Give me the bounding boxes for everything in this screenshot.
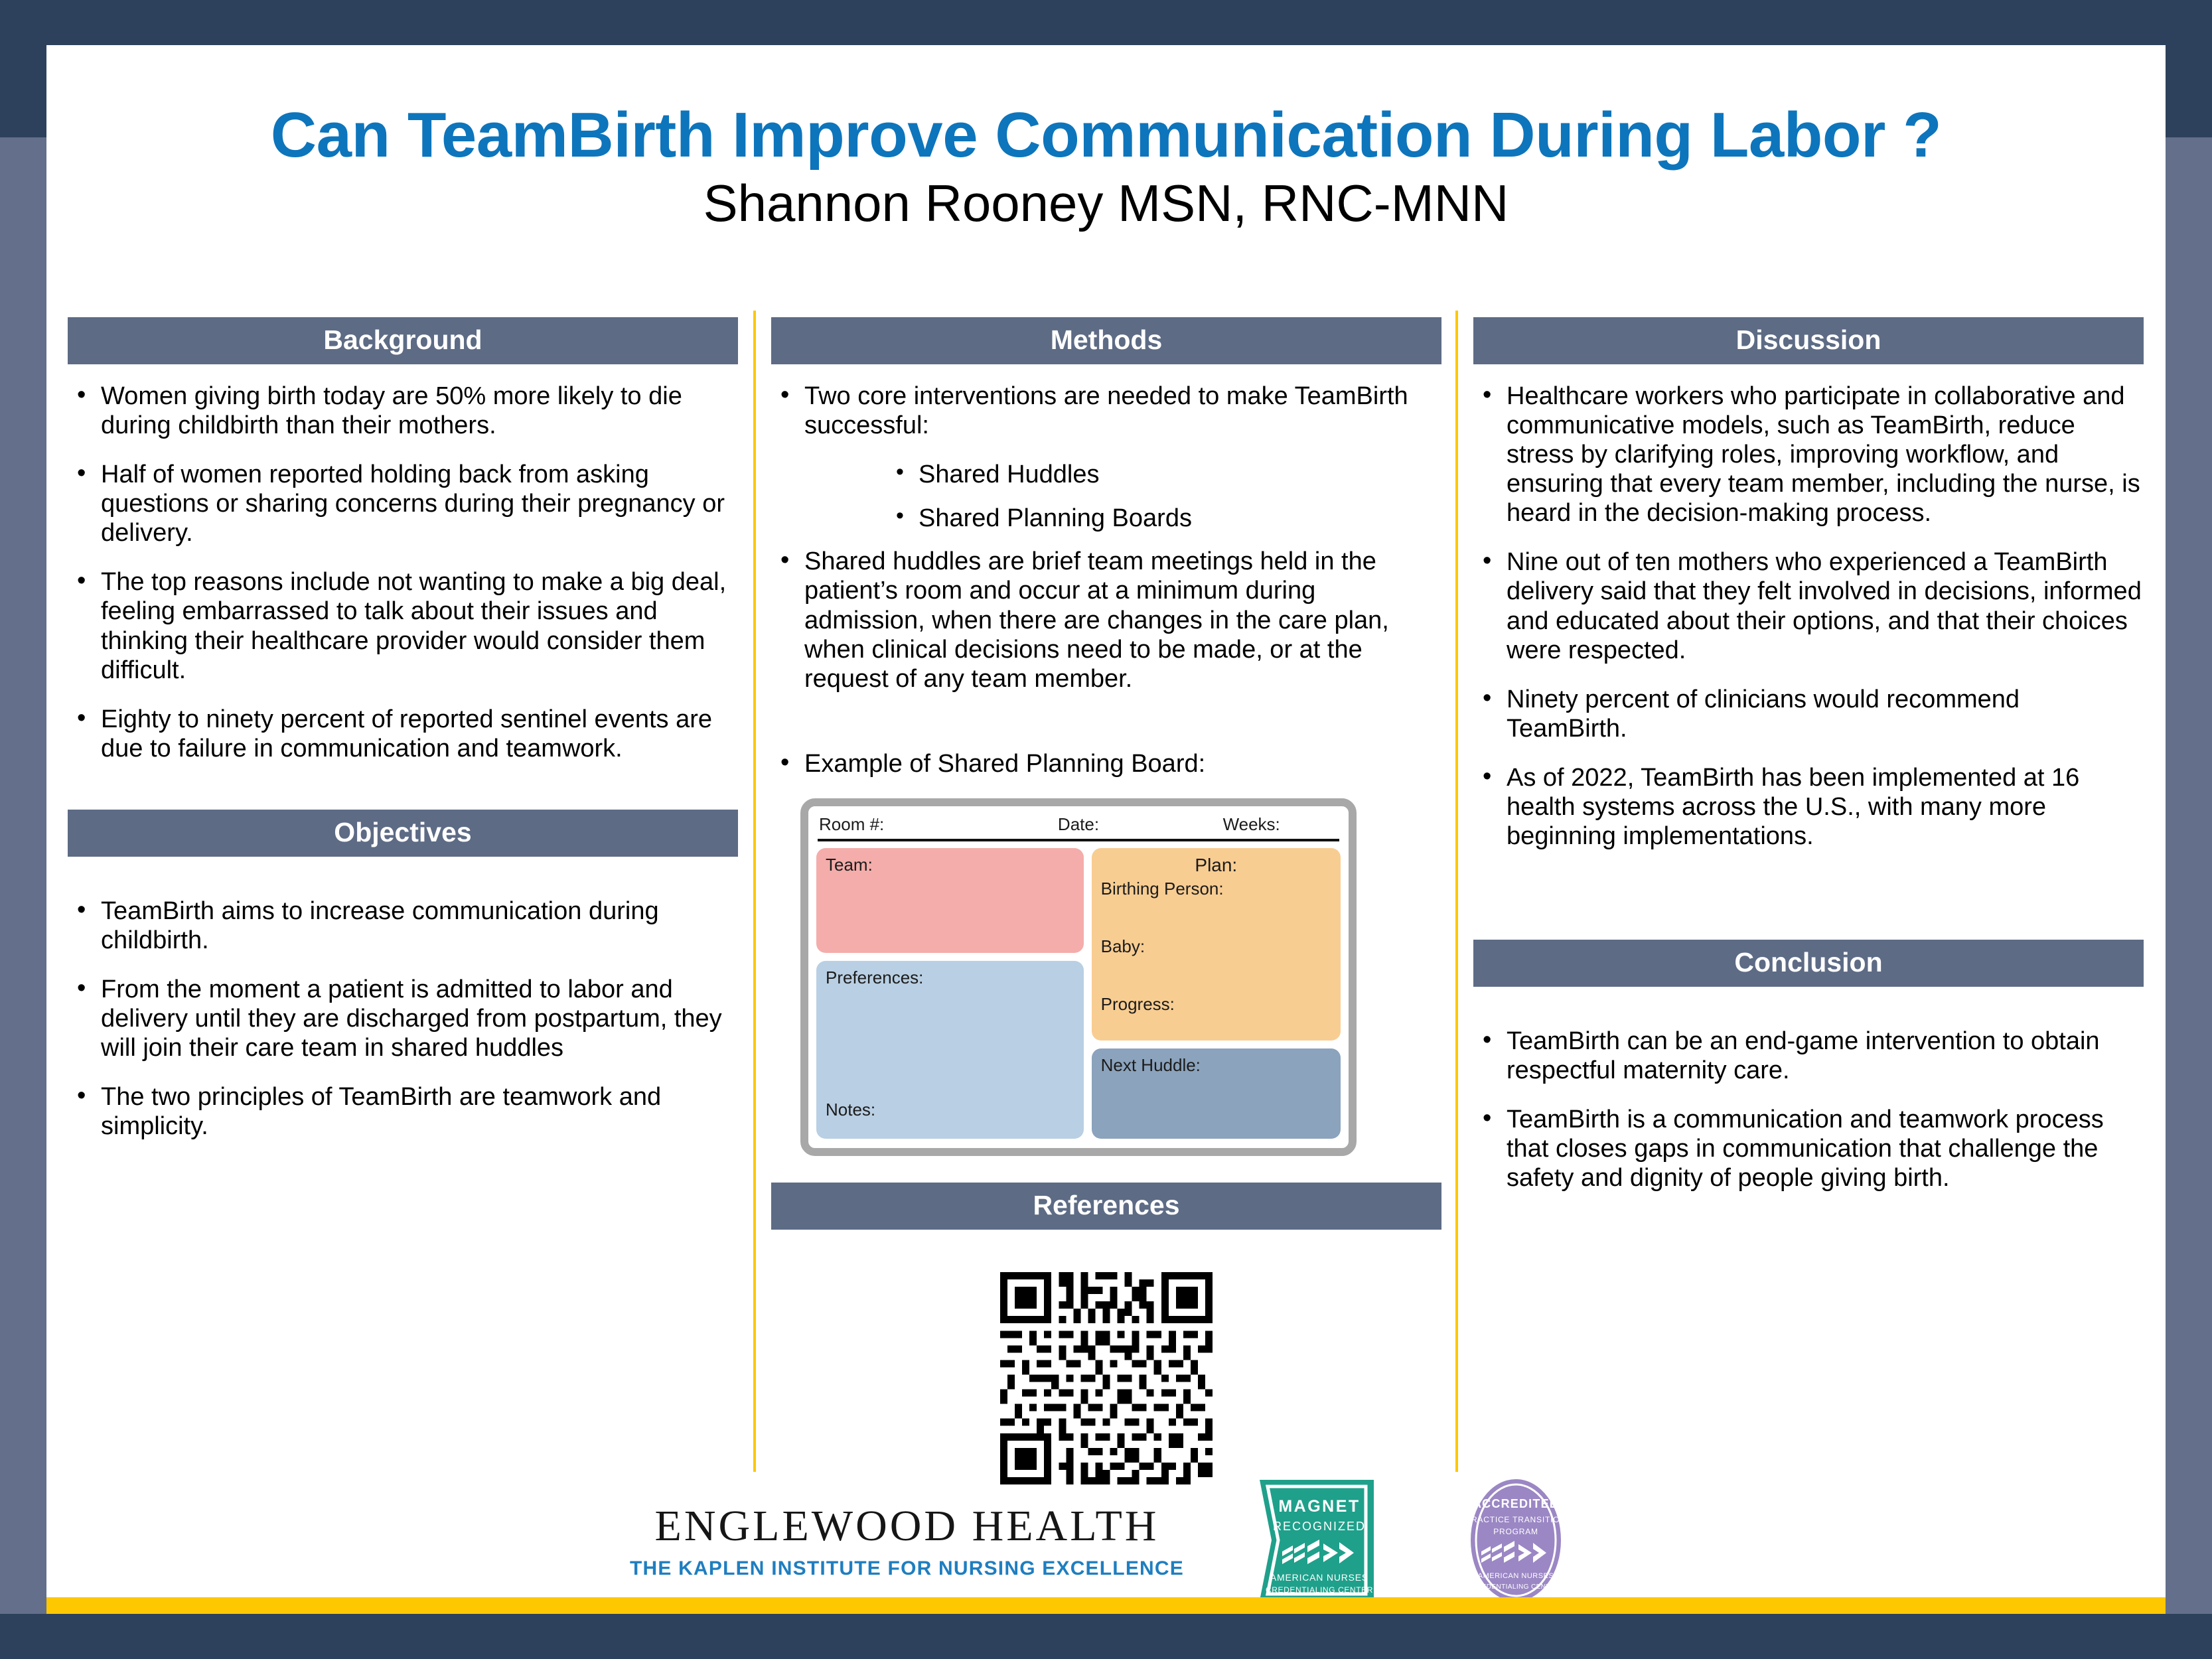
list-item: The two principles of TeamBirth are team…	[68, 1082, 738, 1141]
column-right: Discussion Healthcare workers who partic…	[1473, 317, 2144, 1212]
organization-name: ENGLEWOOD HEALTH	[630, 1504, 1184, 1548]
planning-board-grid: Team: Preferences: Notes: Plan: Birthing…	[816, 848, 1341, 1139]
footer-gold-bar	[46, 1597, 2166, 1614]
list-item: Healthcare workers who participate in co…	[1473, 382, 2144, 528]
board-plan-label: Plan:	[1101, 855, 1331, 876]
methods-huddle-bullet-list: Shared huddles are brief team meetings h…	[771, 547, 1441, 693]
section-header-references: References	[771, 1183, 1441, 1230]
accredited-badge-line3: PROGRAM	[1493, 1527, 1538, 1536]
board-preferences-cell: Preferences: Notes:	[816, 961, 1084, 1139]
list-item: From the moment a patient is admitted to…	[68, 975, 738, 1062]
spacer	[1473, 871, 2144, 940]
spacer	[68, 783, 738, 810]
accredited-badge-line5: CREDENTIALING CENTER	[1471, 1583, 1560, 1591]
board-team-label: Team:	[826, 855, 873, 875]
planning-board-frame: Room #: Date: Weeks: Team: Preferences:	[800, 798, 1357, 1156]
column-divider-2	[1455, 311, 1458, 1472]
list-item: Shared Huddles	[889, 460, 1441, 490]
board-next-huddle-label: Next Huddle:	[1101, 1055, 1201, 1075]
board-divider-rule	[818, 839, 1339, 841]
list-item: TeamBirth is a communication and teamwor…	[1473, 1105, 2144, 1192]
discussion-bullet-list: Healthcare workers who participate in co…	[1473, 364, 2144, 851]
accredited-badge-icon: ACCREDITED PRACTICE TRANSITION PROGRAM A…	[1449, 1477, 1582, 1603]
board-weeks-label: Weeks:	[1165, 814, 1338, 835]
list-item: TeamBirth can be an end-game interventio…	[1473, 1027, 2144, 1085]
shared-planning-board-figure: Room #: Date: Weeks: Team: Preferences:	[800, 798, 1357, 1156]
column-divider-1	[753, 311, 756, 1472]
board-plan-cell: Plan: Birthing Person: Baby: Progress:	[1092, 848, 1341, 1041]
list-item: Nine out of ten mothers who experienced …	[1473, 547, 2144, 664]
column-left: Background Women giving birth today are …	[68, 317, 738, 1161]
section-header-discussion: Discussion	[1473, 317, 2144, 364]
section-header-objectives: Objectives	[68, 810, 738, 857]
magnet-badge-line4: CREDENTIALING CENTER	[1266, 1585, 1373, 1595]
methods-bullet-list: Two core interventions are needed to mak…	[771, 364, 1441, 440]
accredited-badge-line1: ACCREDITED	[1473, 1497, 1559, 1510]
objectives-bullet-list: TeamBirth aims to increase communication…	[68, 857, 738, 1141]
spacer	[771, 713, 1441, 749]
englewood-health-logo: ENGLEWOOD HEALTH THE KAPLEN INSTITUTE FO…	[630, 1504, 1184, 1579]
section-header-background: Background	[68, 317, 738, 364]
planning-board-header-row: Room #: Date: Weeks:	[816, 813, 1341, 839]
background-bottom-band	[0, 1614, 2212, 1659]
list-item: As of 2022, TeamBirth has been implement…	[1473, 763, 2144, 851]
magnet-recognized-badge: MAGNET RECOGNIZED AMERICAN NURSES CREDEN…	[1250, 1477, 1383, 1607]
list-item: The top reasons include not wanting to m…	[68, 567, 738, 684]
board-date-label: Date:	[992, 814, 1165, 835]
poster-canvas: Can TeamBirth Improve Communication Duri…	[0, 0, 2212, 1659]
planning-board-right-column: Plan: Birthing Person: Baby: Progress: N…	[1092, 848, 1341, 1139]
list-item: Shared huddles are brief team meetings h…	[771, 547, 1441, 693]
list-item: Shared Planning Boards	[889, 504, 1441, 534]
poster-header: Can TeamBirth Improve Communication Duri…	[46, 104, 2166, 231]
list-item: Women giving birth today are 50% more li…	[68, 382, 738, 440]
magnet-badge-line2: RECOGNIZED	[1273, 1520, 1366, 1533]
accredited-badge-line2: PRACTICE TRANSITION	[1465, 1515, 1566, 1524]
list-item: Ninety percent of clinicians would recom…	[1473, 685, 2144, 743]
board-preferences-label: Preferences:	[826, 968, 923, 987]
board-birthing-person-label: Birthing Person:	[1101, 879, 1331, 899]
section-header-conclusion: Conclusion	[1473, 940, 2144, 987]
board-room-label: Room #:	[819, 814, 992, 835]
methods-example-bullet-list: Example of Shared Planning Board:	[771, 749, 1441, 778]
background-bullet-list: Women giving birth today are 50% more li…	[68, 364, 738, 763]
list-item: Half of women reported holding back from…	[68, 460, 738, 547]
magnet-badge-line3: AMERICAN NURSES	[1270, 1572, 1368, 1583]
poster-author: Shannon Rooney MSN, RNC-MNN	[46, 177, 2166, 231]
page-title: Can TeamBirth Improve Communication Duri…	[46, 104, 2166, 167]
list-item: Two core interventions are needed to mak…	[771, 382, 1441, 440]
conclusion-bullet-list: TeamBirth can be an end-game interventio…	[1473, 987, 2144, 1192]
list-item: Eighty to ninety percent of reported sen…	[68, 705, 738, 763]
list-item: TeamBirth aims to increase communication…	[68, 897, 738, 955]
accredited-ptp-badge: ACCREDITED PRACTICE TRANSITION PROGRAM A…	[1449, 1477, 1582, 1607]
planning-board-left-column: Team: Preferences: Notes:	[816, 848, 1084, 1139]
poster-sheet: Can TeamBirth Improve Communication Duri…	[46, 45, 2166, 1614]
board-progress-label: Progress:	[1101, 994, 1331, 1015]
section-header-methods: Methods	[771, 317, 1441, 364]
board-baby-label: Baby:	[1101, 936, 1331, 957]
list-item: Example of Shared Planning Board:	[771, 749, 1441, 778]
references-qr-code[interactable]	[1000, 1272, 1213, 1484]
magnet-badge-line1: MAGNET	[1278, 1497, 1360, 1516]
board-team-cell: Team:	[816, 848, 1084, 953]
organization-tagline: THE KAPLEN INSTITUTE FOR NURSING EXCELLE…	[630, 1559, 1184, 1579]
column-middle: Methods Two core interventions are neede…	[771, 317, 1441, 1484]
board-next-huddle-cell: Next Huddle:	[1092, 1048, 1341, 1139]
footer-logos: ENGLEWOOD HEALTH THE KAPLEN INSTITUTE FO…	[46, 1475, 2166, 1608]
methods-sub-bullet-list: Shared Huddles Shared Planning Boards	[771, 460, 1441, 534]
magnet-badge-icon: MAGNET RECOGNIZED AMERICAN NURSES CREDEN…	[1250, 1477, 1383, 1603]
spacer	[771, 1156, 1441, 1183]
qr-code-icon[interactable]	[1000, 1272, 1213, 1484]
board-notes-label: Notes:	[826, 1100, 875, 1120]
accredited-badge-line4: AMERICAN NURSES	[1478, 1572, 1554, 1580]
